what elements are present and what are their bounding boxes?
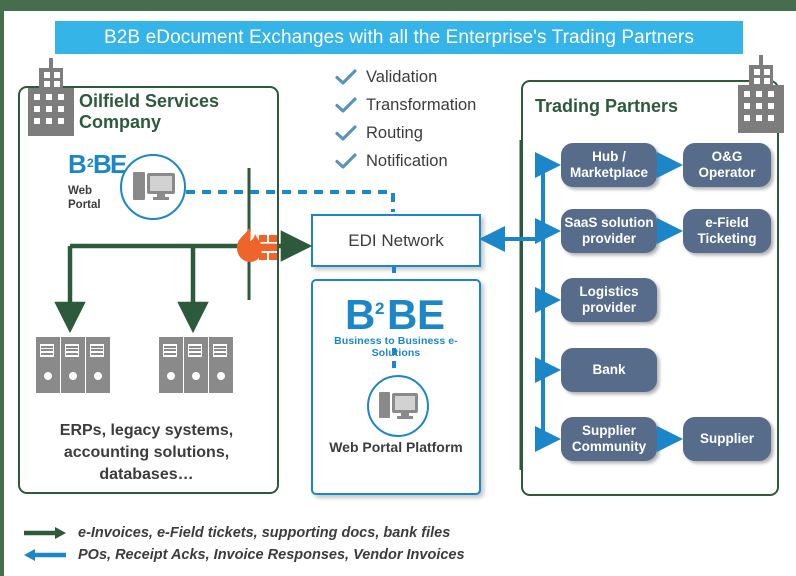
checklist-item: Transformation <box>334 91 476 119</box>
checklist-item: Notification <box>334 147 476 175</box>
firewall-flame-icon <box>235 225 279 265</box>
partner-box-bank[interactable]: Bank <box>561 348 657 392</box>
partner-box-hub-marketplace[interactable]: Hub / Marketplace <box>561 143 657 187</box>
page-title-banner: B2B eDocument Exchanges with all the Ent… <box>55 21 743 54</box>
checklist-item: Routing <box>334 119 476 147</box>
partner-label: Supplier <box>700 431 754 447</box>
partner-label: SaaS solution provider <box>561 215 657 247</box>
edi-network-box[interactable]: EDI Network <box>311 214 481 267</box>
partner-label: Hub / Marketplace <box>561 149 657 181</box>
office-building-icon-left <box>22 58 74 136</box>
checklist-label: Routing <box>366 124 423 143</box>
checklist-label: Notification <box>366 152 448 171</box>
b2be-tagline: Business to Business e-Solutions <box>313 335 479 359</box>
partner-box-saas-provider[interactable]: SaaS solution provider <box>561 209 657 253</box>
svg-text:2: 2 <box>375 299 384 318</box>
svg-text:B: B <box>93 150 112 179</box>
checklist-item: Validation <box>334 63 476 91</box>
svg-text:B: B <box>345 293 375 337</box>
checklist-label: Validation <box>366 68 437 87</box>
checkmark-icon <box>334 96 358 114</box>
partner-box-logistics-provider[interactable]: Logistics provider <box>561 278 657 322</box>
trading-partners-title: Trading Partners <box>535 96 725 117</box>
legend-label-outbound: e-Invoices, e-Field tickets, supporting … <box>78 525 450 541</box>
capability-checklist: Validation Transformation Routing Notifi… <box>334 63 476 175</box>
web-portal-platform-box[interactable]: B 2 B E Business to Business e-Solutions… <box>311 279 481 495</box>
partner-box-og-operator[interactable]: O&G Operator <box>683 143 771 187</box>
partner-label: Logistics provider <box>561 284 657 316</box>
desktop-computer-icon-left <box>120 154 186 220</box>
legend-label-inbound: POs, Receipt Acks, Invoice Responses, Ve… <box>78 547 465 563</box>
left-accent-bar <box>0 0 4 576</box>
checkmark-icon <box>334 124 358 142</box>
legend: e-Invoices, e-Field tickets, supporting … <box>22 522 465 566</box>
page-title: B2B eDocument Exchanges with all the Ent… <box>104 27 694 49</box>
checklist-label: Transformation <box>366 96 476 115</box>
svg-text:B: B <box>387 293 417 337</box>
checkmark-icon <box>334 68 358 86</box>
checkmark-icon <box>334 152 358 170</box>
partner-box-supplier[interactable]: Supplier <box>683 417 771 461</box>
svg-text:E: E <box>417 293 445 337</box>
oilfield-services-title: Oilfield Services Company <box>79 91 249 133</box>
desktop-computer-icon-center <box>367 375 429 437</box>
office-building-icon-right <box>732 55 784 133</box>
b2be-logo-left: B 2 B E <box>68 150 126 184</box>
legacy-systems-caption: ERPs, legacy systems, accounting solutio… <box>24 420 269 486</box>
partner-label: Bank <box>592 362 625 378</box>
top-accent-bar <box>0 0 796 11</box>
legend-row-inbound: POs, Receipt Acks, Invoice Responses, Ve… <box>22 544 465 566</box>
partner-box-supplier-community[interactable]: Supplier Community <box>561 417 657 461</box>
web-portal-label: Web Portal <box>68 184 112 212</box>
svg-text:B: B <box>68 150 87 179</box>
green-right-arrow-icon <box>22 525 68 541</box>
blue-left-arrow-icon <box>22 547 68 563</box>
partner-label: e-Field Ticketing <box>683 215 771 247</box>
legend-row-outbound: e-Invoices, e-Field tickets, supporting … <box>22 522 465 544</box>
partner-label: O&G Operator <box>683 149 771 181</box>
partner-label: Supplier Community <box>561 423 657 455</box>
web-portal-platform-caption: Web Portal Platform <box>313 439 479 456</box>
edi-network-label: EDI Network <box>348 231 443 251</box>
partner-box-efield-ticketing[interactable]: e-Field Ticketing <box>683 209 771 253</box>
